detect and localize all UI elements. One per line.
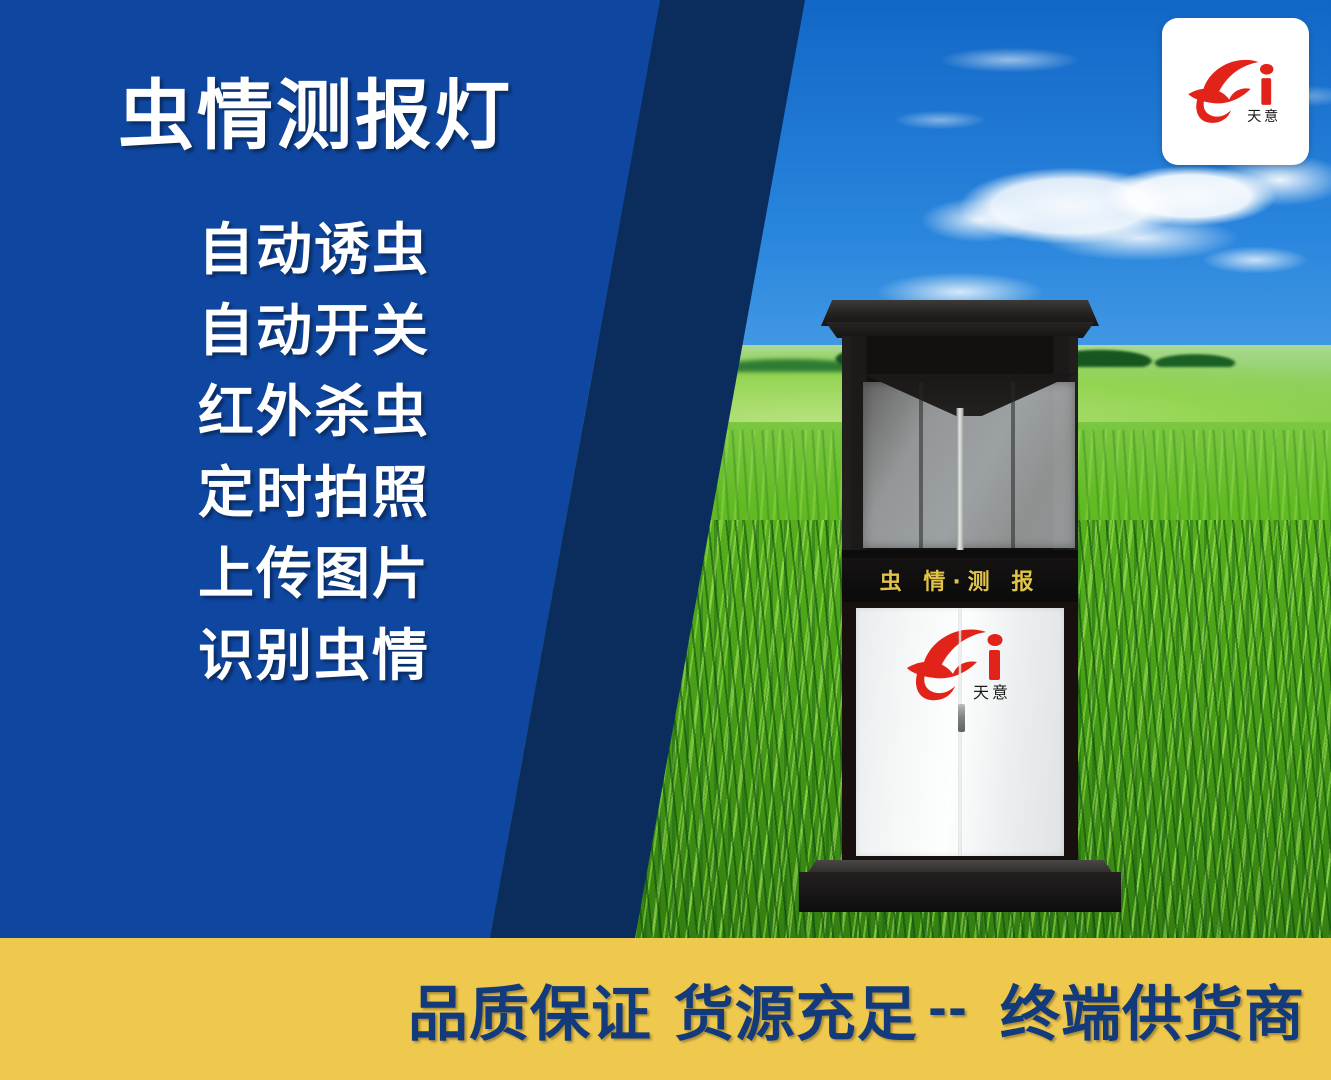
footer-right-text: 终端供货商 [1000, 966, 1305, 1053]
footer-banner: 品质保证 货源充足 -- 终端供货商 [0, 938, 1331, 1080]
feature-item: 定时拍照 [198, 465, 430, 522]
footer-slogan: 品质保证 货源充足 -- 终端供货商 [408, 966, 1305, 1053]
device-glass-cage [842, 336, 1078, 558]
feature-item: 红外杀虫 [198, 384, 430, 441]
page-title: 虫情测报灯 [118, 78, 513, 154]
device-plinth [799, 872, 1121, 912]
tianyi-logo-badge: 天意 [1162, 18, 1309, 165]
device-cabinet: 天意 [842, 602, 1078, 862]
device-lamp-rod [957, 408, 964, 556]
device-mullion-left [919, 382, 923, 548]
footer-separator: -- [918, 982, 978, 1036]
feature-item: 自动开关 [198, 303, 430, 360]
feature-item: 自动诱虫 [198, 222, 430, 279]
device-cabinet-doors: 天意 [856, 608, 1064, 856]
feature-item: 上传图片 [198, 546, 430, 603]
feature-list: 自动诱虫 自动开关 红外杀虫 定时拍照 上传图片 识别虫情 [198, 222, 430, 685]
device-door-seam [959, 608, 962, 856]
device-door-handle [958, 704, 965, 732]
device-panel-label: 虫 情·测 报 [880, 564, 1041, 596]
insect-monitoring-lamp: 虫 情·测 报 [815, 300, 1105, 925]
product-poster: 虫 情·测 报 [0, 0, 1331, 1080]
svg-text:天意: 天意 [1247, 107, 1281, 125]
device-label-band: 虫 情·测 报 [842, 558, 1078, 602]
footer-left-text: 品质保证 货源充足 [408, 966, 918, 1053]
device-mullion-right [1011, 382, 1015, 548]
svg-text:天意: 天意 [973, 683, 1011, 702]
feature-item: 识别虫情 [198, 628, 430, 685]
